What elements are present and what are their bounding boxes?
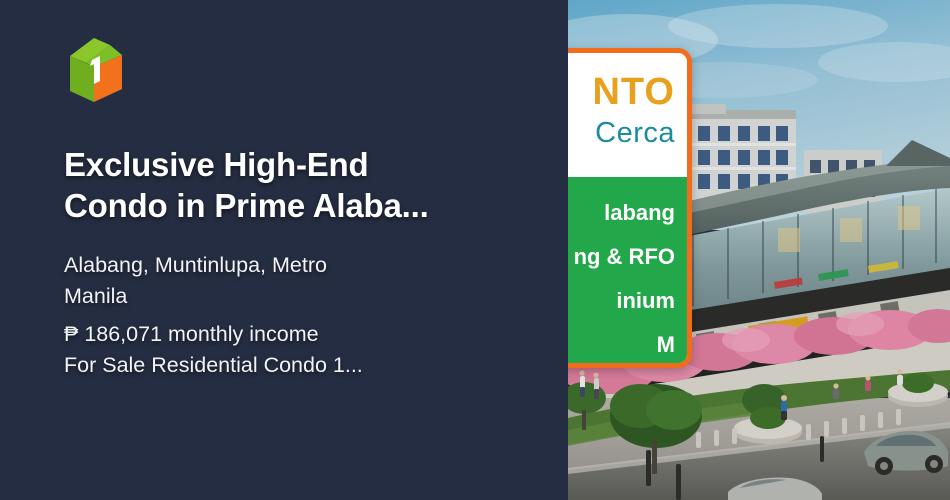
sign-white-panel: NTO Cerca [568,53,687,177]
listing-text-block: Exclusive High-End Condo in Prime Alaba.… [64,144,534,381]
property-listing-card: Exclusive High-End Condo in Prime Alaba.… [0,0,950,500]
project-sign-overlay: NTO Cerca labang ng & RFO inium M [568,48,692,368]
listing-subtitle: For Sale Residential Condo 1... [64,350,534,381]
sign-green-panel: labang ng & RFO inium M [568,177,687,368]
house-one-logo-icon[interactable] [64,34,128,104]
listing-price: ₱ 186,071 monthly income [64,319,534,350]
listing-photo-panel[interactable]: NTO Cerca labang ng & RFO inium M [568,0,950,500]
listing-location: Alabang, Muntinlupa, Metro Manila [64,250,534,312]
sign-line-3: inium [568,279,675,323]
sign-subbrand-text: Cerca [568,115,675,151]
sign-brand-text: NTO [568,69,675,115]
sign-line-4: M [568,323,675,367]
page-title: Exclusive High-End Condo in Prime Alaba.… [64,144,534,226]
listing-info-panel: Exclusive High-End Condo in Prime Alaba.… [0,0,568,500]
sign-line-2: ng & RFO [568,235,675,279]
sign-line-1: labang [568,191,675,235]
